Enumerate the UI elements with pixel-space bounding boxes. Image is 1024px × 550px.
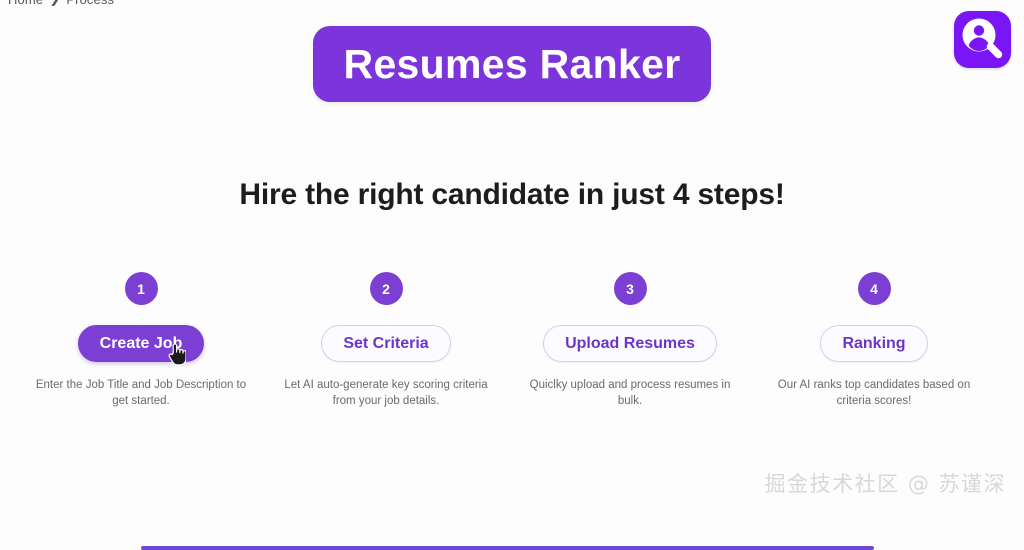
app-logo[interactable] — [954, 11, 1011, 68]
stepper-track — [141, 546, 874, 550]
step-item-3: 3 Upload Resumes Quiclky upload and proc… — [508, 260, 752, 410]
step-item-2: 2 Set Criteria Let AI auto-generate key … — [264, 260, 508, 410]
step-item-4: 4 Ranking Our AI ranks top candidates ba… — [752, 260, 996, 410]
step-number-badge-2: 2 — [370, 272, 403, 305]
section-heading: Hire the right candidate in just 4 steps… — [0, 178, 1024, 212]
breadcrumb-item-process[interactable]: Process — [66, 0, 114, 7]
step-button-create-job[interactable]: Create Job — [78, 325, 205, 362]
step-description-4: Our AI ranks top candidates based on cri… — [768, 377, 980, 410]
step-button-upload-resumes[interactable]: Upload Resumes — [543, 325, 717, 362]
step-button-ranking[interactable]: Ranking — [820, 325, 927, 362]
chevron-right-icon: ❯ — [50, 0, 59, 6]
step-description-2: Let AI auto-generate key scoring criteri… — [280, 377, 492, 410]
page-title: Resumes Ranker — [344, 44, 681, 85]
step-number-badge-3: 3 — [614, 272, 647, 305]
step-number-badge-4: 4 — [858, 272, 891, 305]
step-button-set-criteria[interactable]: Set Criteria — [321, 325, 450, 362]
step-number-badge-1: 1 — [125, 272, 158, 305]
breadcrumb: Home ❯ Process — [8, 0, 114, 7]
breadcrumb-item-home[interactable]: Home — [8, 0, 43, 7]
step-description-1: Enter the Job Title and Job Description … — [35, 377, 247, 410]
person-search-icon — [954, 11, 1011, 68]
step-description-3: Quiclky upload and process resumes in bu… — [524, 377, 736, 410]
step-item-1: 1 Create Job Enter the Job Title and Job… — [19, 260, 263, 410]
page-title-banner: Resumes Ranker — [313, 26, 711, 102]
steps-progress: 1 Create Job Enter the Job Title and Job… — [0, 260, 1024, 410]
watermark: 掘金技术社区 @ 苏谨深 — [765, 468, 1006, 498]
